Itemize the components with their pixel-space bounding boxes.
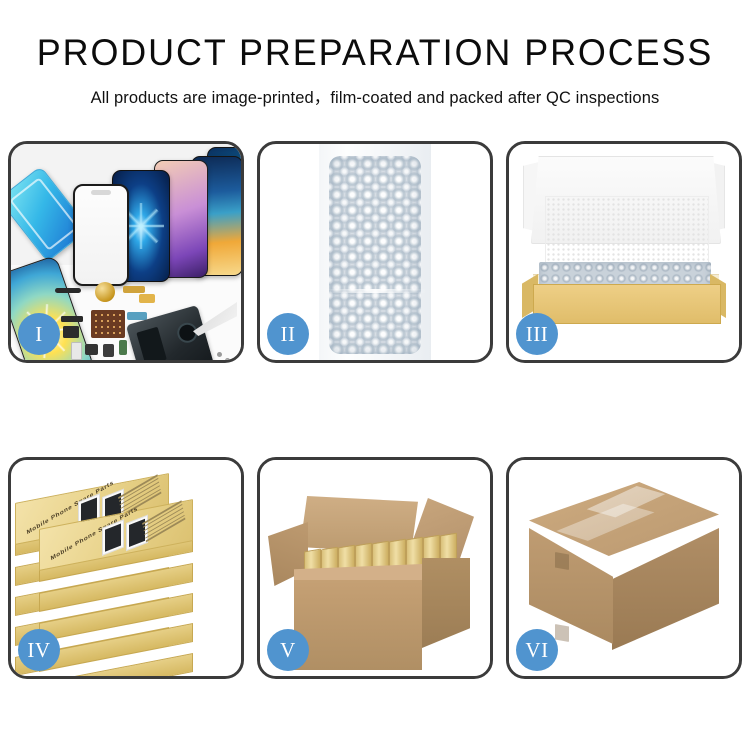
step-badge-4: IV xyxy=(18,629,60,671)
shield-can-part xyxy=(63,326,79,338)
page-header: PRODUCT PREPARATION PROCESS All products… xyxy=(0,0,750,108)
carton-side xyxy=(422,558,470,648)
step-panel-5[interactable]: V xyxy=(257,457,493,679)
process-steps-grid: I II III xyxy=(8,141,742,679)
carton-handle-slot-top xyxy=(555,552,569,570)
ribbon-part xyxy=(127,312,147,320)
page-subtitle: All products are image-printed，film-coat… xyxy=(0,84,750,108)
antenna-part xyxy=(61,316,83,322)
step-panel-4[interactable]: Mobile Phone Spare Parts Mobile Phone Sp xyxy=(8,457,244,679)
screen-protector xyxy=(73,184,129,286)
carton-handle-slot-bottom xyxy=(555,624,569,642)
earpiece-part xyxy=(55,288,81,293)
step-badge-3: III xyxy=(516,313,558,355)
button-part xyxy=(103,344,114,357)
step-badge-5: V xyxy=(267,629,309,671)
step-badge-1: I xyxy=(18,313,60,355)
camera-module-part xyxy=(139,294,155,303)
flex-cable-part xyxy=(123,286,145,293)
step-panel-6[interactable]: VI xyxy=(506,457,742,679)
foam-pad xyxy=(545,196,709,266)
carton-front xyxy=(294,580,422,670)
battery-connector-part xyxy=(119,340,127,355)
chip-array-part xyxy=(91,310,125,338)
step-badge-6: VI xyxy=(516,629,558,671)
kraft-box-front xyxy=(533,284,721,324)
vibrator-part xyxy=(85,344,98,355)
step-panel-2[interactable]: II xyxy=(257,141,493,363)
sim-tray-part xyxy=(71,342,82,360)
step-panel-3[interactable]: III xyxy=(506,141,742,363)
speaker-part xyxy=(95,282,115,302)
bubble-wrap-pouch xyxy=(329,156,421,354)
step-badge-2: II xyxy=(267,313,309,355)
page-title: PRODUCT PREPARATION PROCESS xyxy=(11,34,739,71)
step-panel-1[interactable]: I xyxy=(8,141,244,363)
